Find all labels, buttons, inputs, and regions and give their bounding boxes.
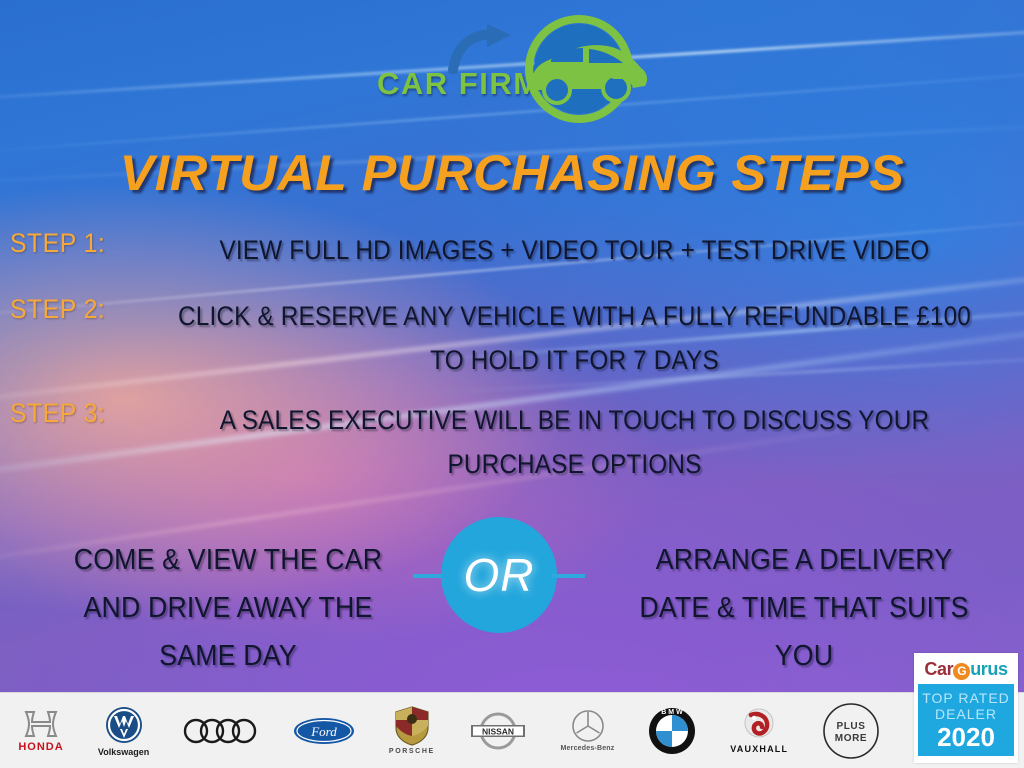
brand-logo-audi xyxy=(183,699,259,763)
volkswagen-icon xyxy=(104,705,144,745)
nissan-wordmark: NISSAN xyxy=(482,726,514,736)
brand-logo-ford: Ford xyxy=(293,699,355,763)
cargurus-g-icon: G xyxy=(953,663,970,680)
company-logo: CAR FIRM xyxy=(375,8,665,128)
cargurus-wordmark: CarGurus xyxy=(914,653,1018,683)
mercedes-icon xyxy=(571,709,605,743)
or-label: OR xyxy=(441,517,557,633)
plus-more-icon: PLUS MORE xyxy=(822,702,880,760)
slide-canvas: CAR FIRM VIRTUAL PURCHASING STEPS STEP 1… xyxy=(0,0,1024,768)
brand-logo-mercedes: Mercedes-Benz xyxy=(561,699,615,763)
logo-wordmark: CAR FIRM xyxy=(377,66,527,102)
brand-logo-vauxhall: VAUXHALL xyxy=(730,699,788,763)
brand-label-honda: HONDA xyxy=(18,741,63,753)
or-divider-circle: OR xyxy=(441,517,557,633)
brand-logo-plus-more: PLUS MORE xyxy=(822,699,880,763)
ford-icon: Ford xyxy=(293,717,355,745)
cargurus-top-rated-dealer-badge: CarGurus TOP RATED DEALER 2020 xyxy=(914,653,1018,763)
step-1-text: VIEW FULL HD IMAGES + VIDEO TOUR + TEST … xyxy=(170,228,979,272)
brand-logo-bmw: B M W xyxy=(648,699,696,763)
step-2-text: CLICK & RESERVE ANY VEHICLE WITH A FULLY… xyxy=(170,294,979,382)
cargurus-award-panel: TOP RATED DEALER 2020 xyxy=(918,684,1014,756)
brand-label-vauxhall: VAUXHALL xyxy=(730,744,788,754)
cargurus-word-car: Car xyxy=(924,659,953,680)
brand-logo-porsche: PORSCHE xyxy=(389,699,435,763)
brand-logo-nissan: NISSAN xyxy=(469,699,527,763)
nissan-icon: NISSAN xyxy=(469,712,527,750)
plus-more-line1: PLUS xyxy=(837,721,866,732)
cargurus-award-line2: DEALER xyxy=(935,706,997,722)
vauxhall-icon xyxy=(742,708,776,742)
option-left-text: COME & VIEW THE CAR AND DRIVE AWAY THE S… xyxy=(44,536,412,680)
car-badge-icon xyxy=(515,10,653,128)
step-2-label: STEP 2: xyxy=(10,294,105,325)
brand-label-volkswagen: Volkswagen xyxy=(98,747,149,757)
audi-icon xyxy=(183,718,259,744)
honda-icon xyxy=(18,709,64,739)
plus-more-line2: MORE xyxy=(835,733,867,744)
ford-wordmark: Ford xyxy=(310,724,337,739)
cargurus-award-line1: TOP RATED xyxy=(922,690,1010,706)
step-1-label: STEP 1: xyxy=(10,228,105,259)
brand-label-porsche: PORSCHE xyxy=(389,748,435,755)
step-3-label: STEP 3: xyxy=(10,398,105,429)
brand-logo-strip: HONDA Volkswagen xyxy=(0,692,1024,768)
bmw-icon: B M W xyxy=(648,707,696,755)
step-3-text: A SALES EXECUTIVE WILL BE IN TOUCH TO DI… xyxy=(170,398,979,486)
page-title: VIRTUAL PURCHASING STEPS xyxy=(0,144,1024,202)
cargurus-award-year: 2020 xyxy=(937,723,995,751)
brand-logo-honda: HONDA xyxy=(18,699,64,763)
brand-label-mercedes: Mercedes-Benz xyxy=(561,745,615,752)
porsche-icon xyxy=(395,706,429,746)
brand-logo-volkswagen: Volkswagen xyxy=(98,699,149,763)
divider-line-right xyxy=(551,574,585,578)
cargurus-word-urus: urus xyxy=(970,659,1007,680)
bmw-wordmark: B M W xyxy=(662,709,684,716)
